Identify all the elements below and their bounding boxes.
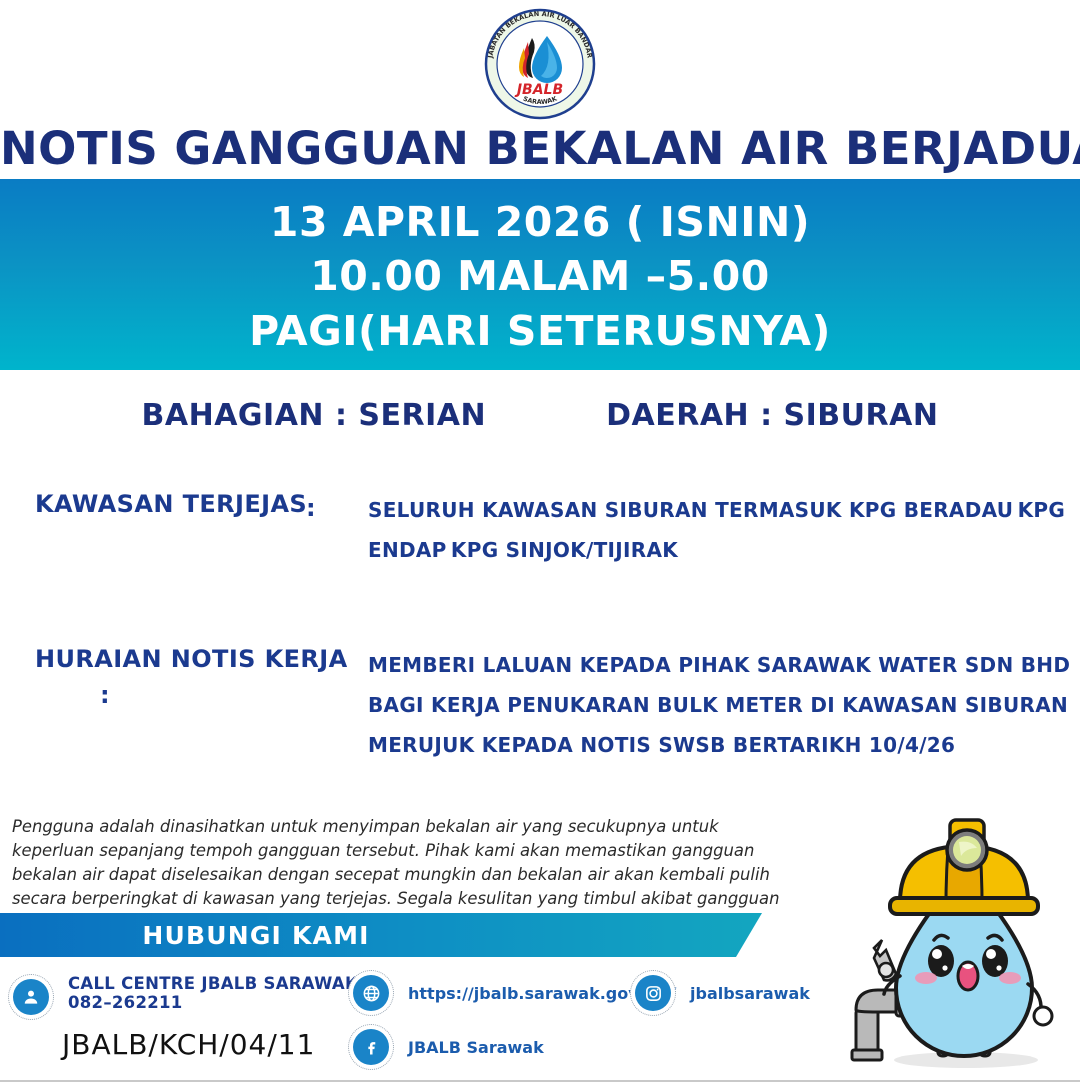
work-description-line: BAGI KERJA PENUKARAN BULK METER DI KAWAS… (368, 685, 1028, 725)
facebook-icon (348, 1024, 394, 1070)
water-disruption-notice: JABATAN BEKALAN AIR LUAR BANDAR SARAWAK … (0, 0, 1080, 1082)
call-centre-item: CALL CENTRE JBALB SARAWAK 082–262211 (8, 974, 358, 1020)
work-description-colon: : (100, 681, 110, 709)
call-centre-text: CALL CENTRE JBALB SARAWAK 082–262211 (68, 974, 358, 1012)
reference-number: JBALB/KCH/04/11 (62, 1028, 315, 1061)
banner-date-line: 13 APRIL 2026 ( ISNIN) (270, 195, 810, 249)
page-title: NOTIS GANGGUAN BEKALAN AIR BERJADUAL (0, 122, 1080, 175)
facebook-item[interactable]: JBALB Sarawak (348, 1024, 544, 1070)
bahagian-label: BAHAGIAN : SERIAN (142, 398, 487, 433)
affected-area-colon: : (306, 494, 316, 522)
affected-area-body: SELURUH KAWASAN SIBURAN TERMASUK KPG BER… (368, 490, 1028, 570)
work-description-line: MEMBERI LALUAN KEPADA PIHAK SARAWAK WATE… (368, 645, 1028, 685)
affected-area-line: ENDAP KPG SINJOK/TIJIRAK (368, 530, 1028, 570)
bar-slash-decoration (787, 913, 829, 957)
water-droplet-mascot (838, 798, 1074, 1076)
person-icon (8, 974, 54, 1020)
facebook-handle[interactable]: JBALB Sarawak (408, 1038, 544, 1057)
schedule-banner: 13 APRIL 2026 ( ISNIN) 10.00 MALAM –5.00… (0, 179, 1080, 370)
globe-icon (348, 970, 394, 1016)
instagram-item[interactable]: jbalbsarawak (630, 970, 810, 1016)
call-centre-name: CALL CENTRE JBALB SARAWAK (68, 974, 358, 993)
contact-bar: HUBUNGI KAMI (0, 913, 762, 957)
work-description-body: MEMBERI LALUAN KEPADA PIHAK SARAWAK WATE… (368, 645, 1028, 765)
banner-time-line: 10.00 MALAM –5.00 (310, 249, 770, 303)
work-description-label: HURAIAN NOTIS KERJA (35, 645, 295, 673)
division-district-row: BAHAGIAN : SERIAN DAERAH : SIBURAN (0, 398, 1080, 433)
banner-time-cont-line: PAGI(HARI SETERUSNYA) (249, 304, 831, 358)
instagram-handle[interactable]: jbalbsarawak (690, 984, 810, 1003)
svg-text:JBALB: JBALB (514, 82, 563, 98)
daerah-label: DAERAH : SIBURAN (606, 398, 938, 433)
instagram-icon (630, 970, 676, 1016)
affected-area-line: SELURUH KAWASAN SIBURAN TERMASUK KPG BER… (368, 490, 1028, 530)
website-item[interactable]: https://jbalb.sarawak.gov.my/ (348, 970, 676, 1016)
contact-bar-label: HUBUNGI KAMI (142, 921, 619, 950)
call-centre-number: 082–262211 (68, 993, 358, 1012)
affected-area-label: KAWASAN TERJEJAS (35, 490, 295, 518)
jbalb-sarawak-logo: JABATAN BEKALAN AIR LUAR BANDAR SARAWAK … (484, 8, 596, 120)
work-description-line: MERUJUK KEPADA NOTIS SWSB BERTARIKH 10/4… (368, 725, 1028, 765)
